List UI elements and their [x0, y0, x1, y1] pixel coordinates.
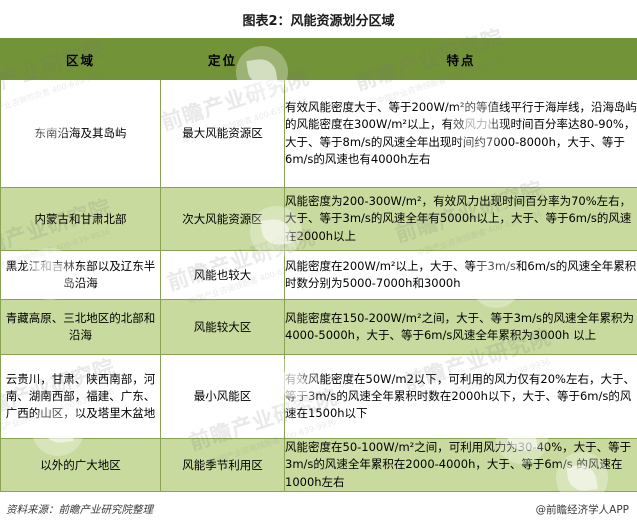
cell-area: 青藏高原、三北地区的北部和沿海	[1, 300, 161, 355]
cell-feature: 风能密度为200-300W/m²，有效风力出现时间百分率为70%左右，大于、等于…	[285, 188, 637, 251]
cell-area: 以外的广大地区	[1, 439, 161, 492]
cell-position: 最大风能资源区	[161, 80, 285, 188]
table-header: 区域 定位 特点	[1, 39, 637, 80]
source-note: 资料来源：前瞻产业研究院整理	[6, 502, 153, 517]
table-row: 以外的广大地区 风能季节利用区 风能密度在50-100W/m²之间，可利用风力为…	[1, 439, 637, 492]
cell-area: 东南沿海及其岛屿	[1, 80, 161, 188]
column-header-area: 区域	[1, 39, 161, 80]
cell-position: 风能也较大	[161, 251, 285, 300]
cell-feature: 风能密度在150-200W/m²之间，大于、等于3m/s的风速全年累积为4000…	[285, 300, 637, 355]
cell-position: 风能季节利用区	[161, 439, 285, 492]
table-row: 内蒙古和甘肃北部 次大风能资源区 风能密度为200-300W/m²，有效风力出现…	[1, 188, 637, 251]
table-header-row: 区域 定位 特点	[1, 39, 637, 80]
footer: 资料来源：前瞻产业研究院整理 @前瞻经济学人APP	[0, 496, 637, 532]
table-row: 东南沿海及其岛屿 最大风能资源区 有效风能密度大于、等于200W/m²的等值线平…	[1, 80, 637, 188]
cell-position: 风能较大区	[161, 300, 285, 355]
table-row: 云贵川，甘肃、陕西南部，河南、湖南西部，福建、广东、广西的山区，以及塔里木盆地 …	[1, 355, 637, 439]
cell-area: 云贵川，甘肃、陕西南部，河南、湖南西部，福建、广东、广西的山区，以及塔里木盆地	[1, 355, 161, 439]
brand-credit: @前瞻经济学人APP	[536, 502, 629, 517]
cell-feature: 风能密度在50-100W/m²之间，可利用风力为30-40%，大于、等于3m/s…	[285, 439, 637, 492]
table-body: 东南沿海及其岛屿 最大风能资源区 有效风能密度大于、等于200W/m²的等值线平…	[1, 80, 637, 492]
cell-position: 次大风能资源区	[161, 188, 285, 251]
cell-position: 最小风能区	[161, 355, 285, 439]
wind-resource-table: 区域 定位 特点 东南沿海及其岛屿 最大风能资源区 有效风能密度大于、等于200…	[0, 38, 637, 492]
column-header-position: 定位	[161, 39, 285, 80]
cell-feature: 有效风能密度大于、等于200W/m²的等值线平行于海岸线，沿海岛屿的风能密度在3…	[285, 80, 637, 188]
table-row: 青藏高原、三北地区的北部和沿海 风能较大区 风能密度在150-200W/m²之间…	[1, 300, 637, 355]
cell-feature: 风能密度在200W/m²以上，大于、等于3m/s和6m/s的风速全年累积时数分别…	[285, 251, 637, 300]
table-row: 黑龙江和吉林东部以及辽东半岛沿海 风能也较大 风能密度在200W/m²以上，大于…	[1, 251, 637, 300]
column-header-feature: 特点	[285, 39, 637, 80]
cell-feature: 有效风能密度在50W/m2以下，可利用的风力仅有20%左右，大于、等于3m/s的…	[285, 355, 637, 439]
cell-area: 内蒙古和甘肃北部	[1, 188, 161, 251]
cell-area: 黑龙江和吉林东部以及辽东半岛沿海	[1, 251, 161, 300]
page-title: 图表2：风能资源划分区域	[0, 10, 637, 29]
